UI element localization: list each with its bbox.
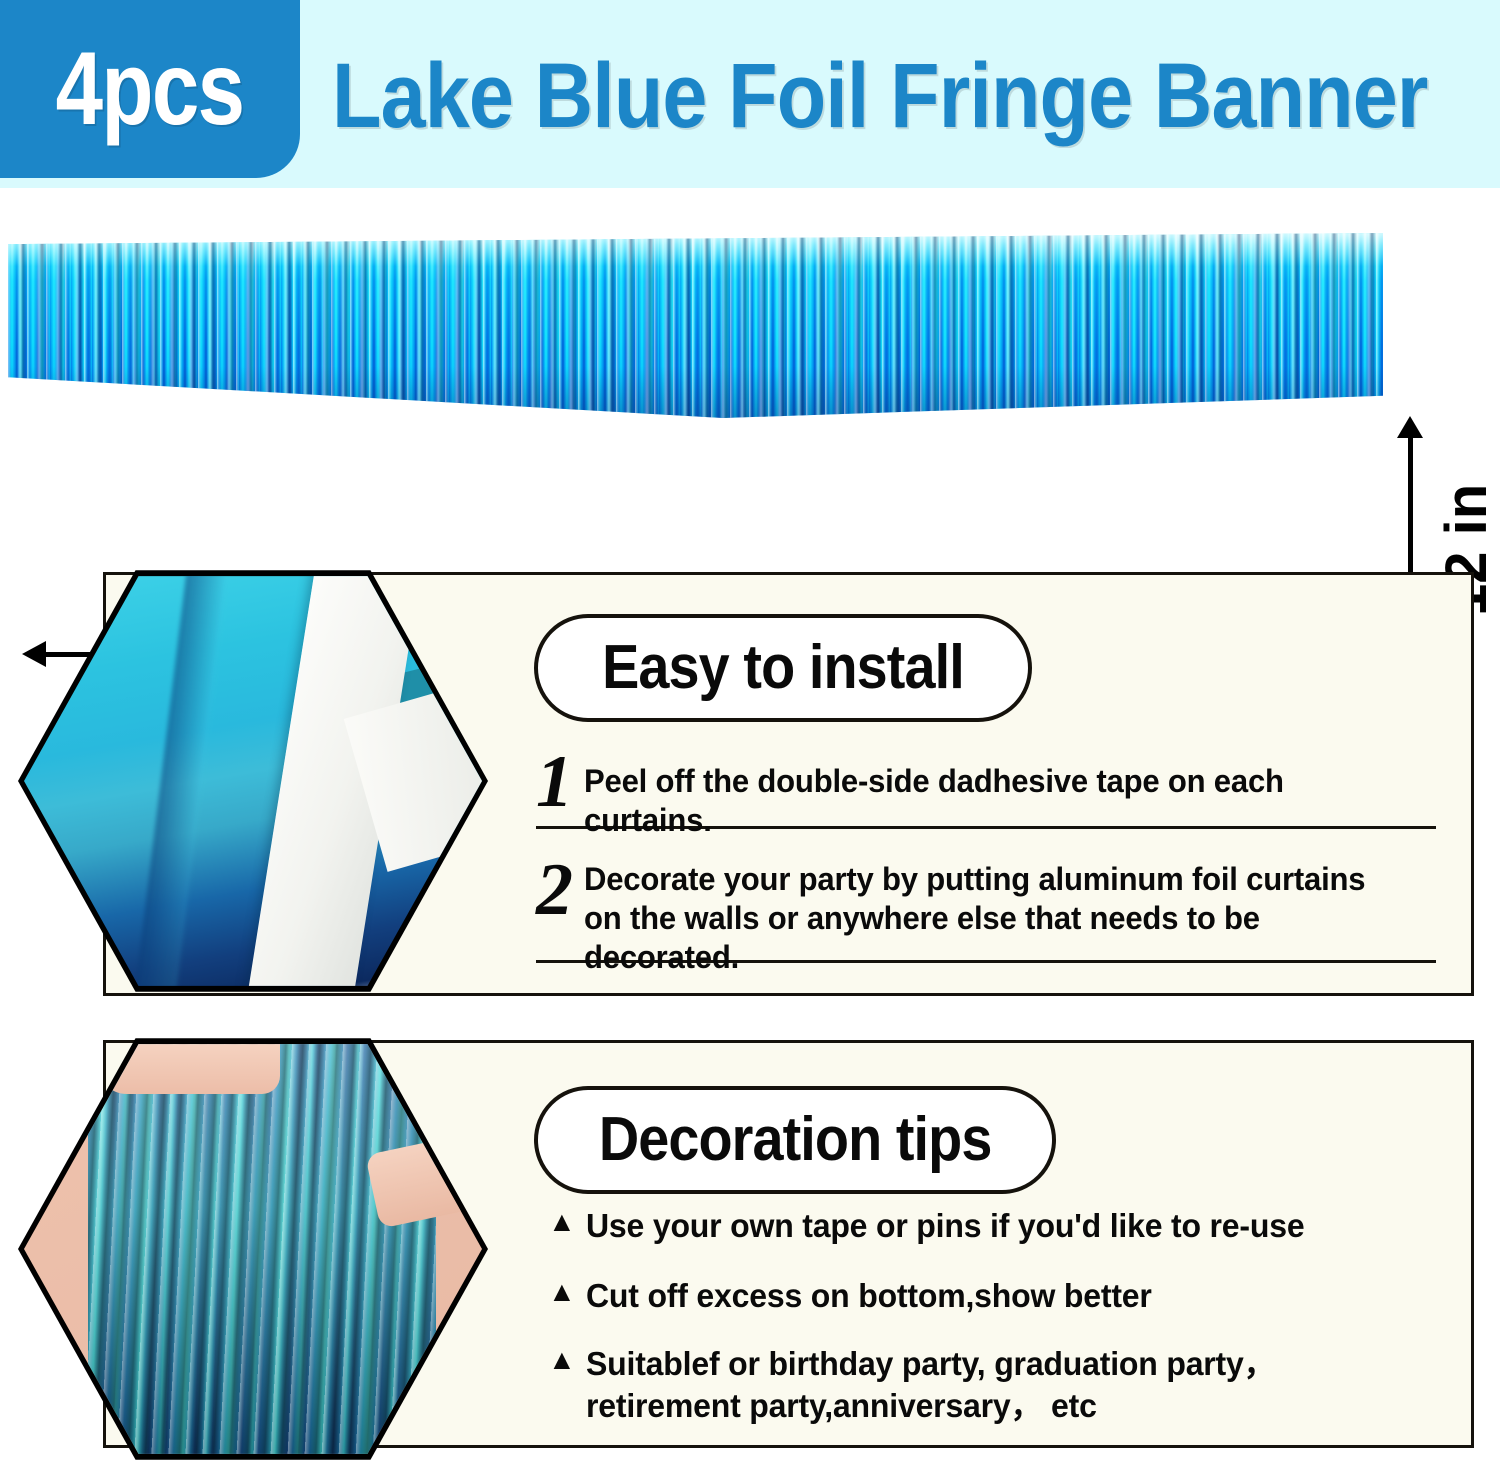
tips-item-3-text: Suitablef or birthday party, graduation … xyxy=(586,1343,1412,1426)
fringe-banner-image xyxy=(8,233,1383,418)
foil-fold-highlight xyxy=(131,572,233,990)
install-heading-label: Easy to install xyxy=(602,637,964,699)
install-step-1-text: Peel off the double-side dadhesive tape … xyxy=(584,748,1410,840)
tips-item-1-text: Use your own tape or pins if you'd like … xyxy=(586,1205,1412,1247)
install-heading-pill: Easy to install xyxy=(534,614,1032,722)
tips-item-2: ▲ Cut off excess on bottom,show better xyxy=(548,1275,1438,1317)
header-bar: 4pcs Lake Blue Foil Fringe Banner xyxy=(0,0,1500,188)
page-title: Lake Blue Foil Fringe Banner xyxy=(332,50,1428,142)
install-step-1-number: 1 xyxy=(536,748,584,816)
tips-heading-label: Decoration tips xyxy=(599,1109,992,1171)
triangle-bullet-icon: ▲ xyxy=(548,1275,586,1309)
install-step-2-text: Decorate your party by putting aluminum … xyxy=(584,856,1410,977)
tips-item-3: ▲ Suitablef or birthday party, graduatio… xyxy=(548,1343,1438,1426)
tips-item-1: ▲ Use your own tape or pins if you'd lik… xyxy=(548,1205,1438,1247)
install-step-2-number: 2 xyxy=(536,856,584,924)
triangle-bullet-icon: ▲ xyxy=(548,1205,586,1239)
fringe-strips-closeup xyxy=(88,1040,436,1458)
fringe-banner-photo xyxy=(8,233,1383,453)
tips-item-2-text: Cut off excess on bottom,show better xyxy=(586,1275,1412,1317)
tips-heading-pill: Decoration tips xyxy=(534,1086,1056,1194)
install-step-1: 1 Peel off the double-side dadhesive tap… xyxy=(536,748,1436,829)
height-dimension-label: 12 in xyxy=(1424,238,1482,428)
product-dimension-area: 12 in 10 ft xyxy=(0,188,1500,560)
quantity-badge: 4pcs xyxy=(0,0,300,178)
quantity-badge-label: 4pcs xyxy=(56,37,244,141)
triangle-bullet-icon: ▲ xyxy=(548,1343,586,1377)
install-step-2: 2 Decorate your party by putting aluminu… xyxy=(536,856,1436,963)
